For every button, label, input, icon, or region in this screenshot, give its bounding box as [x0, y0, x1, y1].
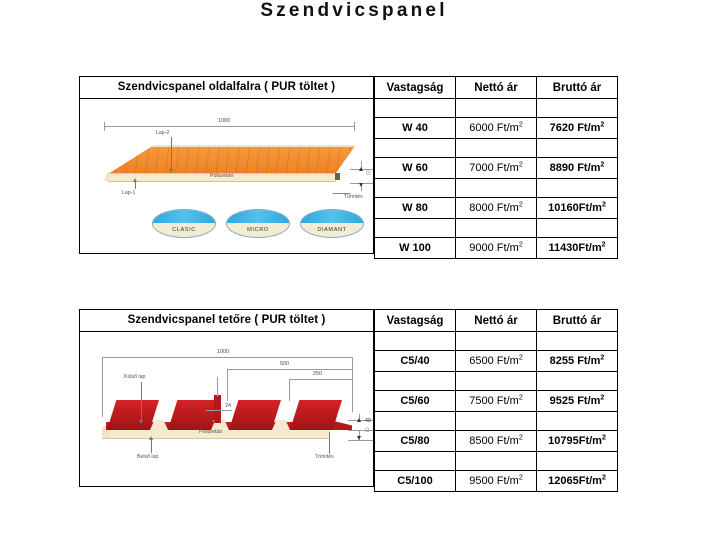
roof-spacer-row [375, 412, 618, 431]
roof-dim-ext-half [227, 369, 228, 401]
roof-dim-ext-right [352, 357, 353, 412]
roof-dim-line-half [227, 369, 353, 370]
wall-spacer-cell [537, 99, 618, 118]
roof-label-seal: Tömítés [315, 454, 334, 460]
roof-spacer-cell [375, 332, 456, 351]
wall-cell-gross: 11430Ft/m2 [537, 238, 618, 259]
wall-cell-gross-text: 7620 Ft/m [550, 122, 601, 134]
wall-cell-gross-sup: 2 [602, 201, 606, 208]
wall-panel-card: Szendvicspanel oldalfalra ( PUR töltet )… [79, 76, 374, 254]
wall-panel-top-edge [152, 145, 355, 147]
wall-cell-gross: 7620 Ft/m2 [537, 118, 618, 139]
wall-leader-arrow-bottom-sheet [133, 178, 137, 182]
roof-spacer-cell [537, 452, 618, 471]
wall-panel-seal-nub [335, 173, 340, 180]
roof-cell-thickness: C5/60 [375, 391, 456, 412]
roof-spacer-row [375, 372, 618, 391]
roof-col-header-thickness: Vastagság [375, 310, 456, 332]
roof-leader-inner-sheet [151, 439, 152, 453]
wall-cell-net-sup: 2 [519, 121, 523, 128]
roof-price-table: Vastagság Nettó ár Bruttó ár C5/40 6500 … [374, 309, 618, 492]
wall-cell-gross: 8890 Ft/m2 [537, 158, 618, 179]
wall-spacer-cell [375, 179, 456, 198]
roof-cell-net-text: 9500 Ft/m [469, 475, 519, 487]
roof-spacer-cell [375, 412, 456, 431]
roof-dim-width-label: 1000 [217, 349, 229, 355]
wall-spacer-cell [456, 99, 537, 118]
roof-cell-gross-text: 12065Ft/m [548, 475, 602, 487]
roof-cell-net-text: 8500 Ft/m [469, 435, 519, 447]
wall-cell-net: 7000 Ft/m2 [456, 158, 537, 179]
wall-leader-seal [332, 179, 362, 194]
wall-cell-thickness: W 40 [375, 118, 456, 139]
table-row: C5/80 8500 Ft/m2 10795Ft/m2 [375, 431, 618, 452]
wall-cell-net-sup: 2 [519, 161, 523, 168]
wall-label-seal: Tömítés [344, 194, 363, 200]
wall-col-header-thickness: Vastagság [375, 77, 456, 99]
wall-col-header-net: Nettó ár [456, 77, 537, 99]
roof-spacer-row [375, 332, 618, 351]
wall-spacer-cell [456, 139, 537, 158]
wall-cell-gross: 10160Ft/m2 [537, 198, 618, 219]
roof-leader-arrow-outer-sheet [139, 420, 143, 424]
wall-dim-arrow-g-top [359, 167, 363, 171]
page-title: Szendvicspanel [0, 0, 708, 22]
table-row: C5/100 9500 Ft/m2 12065Ft/m2 [375, 471, 618, 492]
roof-dim-arrow-40-top [357, 418, 361, 422]
wall-panel-rib-lines [108, 146, 355, 174]
roof-label-height-40: 40 [365, 418, 371, 424]
roof-spacer-cell [537, 412, 618, 431]
roof-label-core: Poliuretán [199, 429, 222, 435]
roof-cell-net-sup: 2 [519, 434, 523, 441]
badge-micro-label: MICRO [227, 223, 289, 237]
roof-spacer-cell [456, 452, 537, 471]
roof-cell-gross-text: 10795Ft/m [548, 435, 602, 447]
roof-price-table-header-row: Vastagság Nettó ár Bruttó ár [375, 310, 618, 332]
roof-dim-ext-rib [217, 377, 218, 397]
roof-cell-gross-sup: 2 [602, 474, 606, 481]
wall-label-core: Poliuretán [210, 173, 233, 179]
product-block-wall: Szendvicspanel oldalfalra ( PUR töltet )… [79, 76, 618, 254]
wall-spacer-cell [456, 219, 537, 238]
wall-cell-net: 6000 Ft/m2 [456, 118, 537, 139]
roof-dim-line-width [102, 357, 353, 358]
roof-col-header-gross: Bruttó ár [537, 310, 618, 332]
wall-cell-gross-sup: 2 [602, 241, 606, 248]
wall-label-bottom-sheet: Lap-1 [122, 190, 135, 196]
wall-cell-gross-sup: 2 [600, 121, 604, 128]
wall-dim-line-width [104, 126, 354, 127]
roof-spacer-cell [375, 372, 456, 391]
roof-cell-gross-sup: 2 [602, 434, 606, 441]
roof-center-rib [214, 395, 221, 423]
roof-label-outer-sheet: Külső lap [124, 374, 145, 380]
roof-panel-card: Szendvicspanel tetőre ( PUR töltet ) 100… [79, 309, 374, 487]
wall-cell-net-text: 8000 Ft/m [469, 202, 519, 214]
roof-cell-thickness: C5/40 [375, 351, 456, 372]
badge-micro-top-fill [227, 210, 289, 223]
roof-col-header-net: Nettó ár [456, 310, 537, 332]
badge-clasic-label: CLASIC [153, 223, 215, 237]
wall-spacer-cell [456, 179, 537, 198]
roof-cell-net: 7500 Ft/m2 [456, 391, 537, 412]
roof-cell-gross-sup: 2 [600, 354, 604, 361]
wall-cell-gross-text: 10160Ft/m [548, 202, 602, 214]
wall-cell-net: 8000 Ft/m2 [456, 198, 537, 219]
wall-cell-net-text: 7000 Ft/m [469, 162, 519, 174]
roof-dim-ext-quarter [289, 379, 290, 401]
wall-price-table: Vastagság Nettó ár Bruttó ár W 40 6000 F… [374, 76, 618, 259]
wall-cell-thickness: W 80 [375, 198, 456, 219]
table-row: W 60 7000 Ft/m2 8890 Ft/m2 [375, 158, 618, 179]
wall-spacer-row [375, 179, 618, 198]
table-row: C5/60 7500 Ft/m2 9525 Ft/m2 [375, 391, 618, 412]
product-block-roof: Szendvicspanel tetőre ( PUR töltet ) 100… [79, 309, 618, 487]
wall-spacer-cell [537, 219, 618, 238]
roof-cell-net: 6500 Ft/m2 [456, 351, 537, 372]
roof-leader-outer-sheet [141, 382, 142, 422]
roof-cell-net-sup: 2 [519, 394, 523, 401]
wall-cell-net-text: 6000 Ft/m [469, 122, 519, 134]
roof-cell-thickness: C5/80 [375, 431, 456, 452]
roof-cell-gross-text: 8255 Ft/m [550, 355, 601, 367]
badge-diamant-label: DIAMANT [301, 223, 363, 237]
roof-dim-rib-label: 24 [225, 403, 231, 409]
wall-price-table-header-row: Vastagság Nettó ár Bruttó ár [375, 77, 618, 99]
roof-label-thickness-g: G [365, 428, 370, 434]
roof-cell-net-sup: 2 [519, 354, 523, 361]
table-row: W 100 9000 Ft/m2 11430Ft/m2 [375, 238, 618, 259]
roof-cell-net-sup: 2 [519, 474, 523, 481]
roof-spacer-cell [456, 332, 537, 351]
wall-spacer-row [375, 139, 618, 158]
wall-spacer-cell [375, 99, 456, 118]
roof-cell-net: 9500 Ft/m2 [456, 471, 537, 492]
wall-spacer-cell [537, 139, 618, 158]
table-row: W 40 6000 Ft/m2 7620 Ft/m2 [375, 118, 618, 139]
wall-spacer-row [375, 219, 618, 238]
roof-cell-net: 8500 Ft/m2 [456, 431, 537, 452]
roof-dim-line-g-bottom [348, 440, 373, 441]
roof-cell-gross-text: 9525 Ft/m [550, 395, 601, 407]
roof-spacer-cell [456, 372, 537, 391]
wall-spacer-cell [375, 219, 456, 238]
roof-cell-gross-sup: 2 [600, 394, 604, 401]
table-row: C5/40 6500 Ft/m2 8255 Ft/m2 [375, 351, 618, 372]
wall-cell-thickness: W 100 [375, 238, 456, 259]
roof-spacer-cell [537, 332, 618, 351]
roof-dim-arrow-g-bottom [357, 436, 361, 440]
badge-diamant-top-fill [301, 210, 363, 223]
wall-col-header-gross: Bruttó ár [537, 77, 618, 99]
wall-cell-net-sup: 2 [519, 201, 523, 208]
wall-leader-arrow-top-sheet [169, 169, 173, 173]
wall-dim-tick-left [104, 122, 105, 131]
wall-leader-top-sheet [171, 137, 172, 171]
wall-dim-tick-right [354, 122, 355, 131]
roof-cell-gross: 12065Ft/m2 [537, 471, 618, 492]
roof-panel-figure: 1000 500 250 [80, 332, 373, 486]
wall-cell-gross-text: 11430Ft/m [548, 242, 601, 254]
roof-cell-net-text: 7500 Ft/m [469, 395, 519, 407]
roof-dim-half-label: 500 [280, 361, 289, 367]
badge-diamant[interactable]: DIAMANT [300, 209, 364, 238]
roof-dim-quarter-label: 250 [313, 371, 322, 377]
wall-panel-figure: 1000 Lap-2 Poliuretán [80, 99, 373, 253]
roof-spacer-cell [375, 452, 456, 471]
roof-cell-gross: 8255 Ft/m2 [537, 351, 618, 372]
roof-cell-thickness: C5/100 [375, 471, 456, 492]
roof-label-inner-sheet: Belső lap [137, 454, 158, 460]
roof-cell-gross: 10795Ft/m2 [537, 431, 618, 452]
wall-cell-net-text: 9000 Ft/m [469, 242, 519, 254]
badge-clasic-top-fill [153, 210, 215, 223]
wall-dim-arrow-g-bottom [359, 183, 363, 187]
roof-spacer-cell [456, 412, 537, 431]
wall-spacer-cell [375, 139, 456, 158]
badge-micro[interactable]: MICRO [226, 209, 290, 238]
roof-spacer-cell [537, 372, 618, 391]
wall-cell-gross-text: 8890 Ft/m [550, 162, 601, 174]
wall-leader-bottom-sheet [135, 181, 136, 189]
wall-cell-net-sup: 2 [519, 241, 523, 248]
wall-cell-net: 9000 Ft/m2 [456, 238, 537, 259]
roof-leader-arrow-inner-sheet [149, 436, 153, 440]
table-row: W 80 8000 Ft/m2 10160Ft/m2 [375, 198, 618, 219]
roof-cell-gross: 9525 Ft/m2 [537, 391, 618, 412]
roof-dim-ext-left [102, 357, 103, 417]
wall-label-thickness-g: G [366, 171, 371, 177]
wall-label-top-sheet: Lap-2 [156, 130, 169, 136]
roof-spacer-row [375, 452, 618, 471]
wall-spacer-cell [537, 179, 618, 198]
roof-panel-card-title: Szendvicspanel tetőre ( PUR töltet ) [80, 310, 373, 332]
roof-leader-seal [329, 432, 330, 454]
wall-panel-left-edge [104, 172, 110, 181]
wall-cell-gross-sup: 2 [600, 161, 604, 168]
wall-panel-card-title: Szendvicspanel oldalfalra ( PUR töltet ) [80, 77, 373, 99]
wall-cell-thickness: W 60 [375, 158, 456, 179]
roof-cell-net-text: 6500 Ft/m [469, 355, 519, 367]
badge-clasic[interactable]: CLASIC [152, 209, 216, 238]
roof-dim-line-quarter [289, 379, 353, 380]
roof-dim-line-rib [206, 410, 232, 411]
wall-spacer-row [375, 99, 618, 118]
wall-dim-width-label: 1000 [218, 118, 230, 124]
